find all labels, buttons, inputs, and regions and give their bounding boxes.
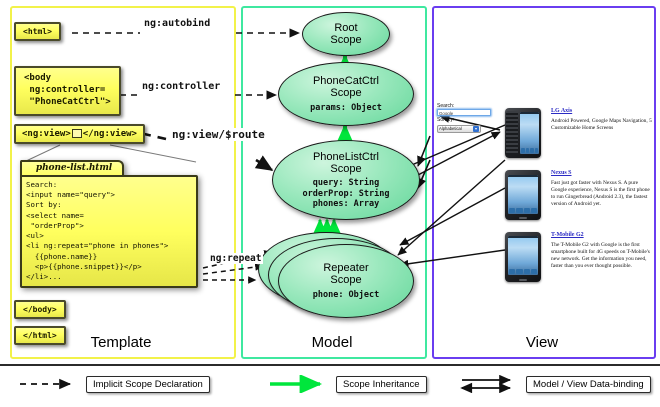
panel-label-template: Template xyxy=(10,334,232,351)
legend-item-scope-inheritance: Scope Inheritance xyxy=(268,374,427,394)
phone-name-link[interactable]: LG Axis xyxy=(551,108,655,116)
search-widget: Search: Google Sort by: Alphabetical ▾ xyxy=(437,103,493,133)
legend-item-implicit-scope: Implicit Scope Declaration xyxy=(18,374,210,394)
phone-thumbnail-icon xyxy=(505,232,541,282)
scope-phonecatctrl-title: PhoneCatCtrl Scope xyxy=(313,75,379,100)
phone-name-link[interactable]: T-Mobile G2 xyxy=(551,232,655,240)
phone-thumbnail-icon xyxy=(505,170,541,220)
search-input[interactable]: Google xyxy=(437,109,491,116)
edge-label-ng-autobind: ng:autobind xyxy=(142,18,212,29)
note-title: phone-list.html xyxy=(22,163,126,173)
note-tab: phone-list.html xyxy=(20,160,124,176)
scope-phonelistctrl-title: PhoneListCtrl Scope xyxy=(313,151,379,176)
phone-snippet: Android Powered, Google Maps Navigation,… xyxy=(551,118,655,132)
note-code: Search: <input name="query"> Sort by: <s… xyxy=(20,175,198,288)
diagram-root: <html> <body ng:controller= "PhoneCatCtr… xyxy=(0,0,660,405)
ngview-open-tag: <ng:view> xyxy=(22,129,71,139)
edge-label-ng-repeat: ng:repeat xyxy=(208,253,263,264)
phone-snippet: Fast just got faster with Nexus S. A pur… xyxy=(551,180,655,209)
scope-phonelistctrl-props: query: String orderProp: String phones: … xyxy=(303,178,390,209)
scope-phonecatctrl-props: params: Object xyxy=(310,103,382,113)
scope-repeater-props: phone: Object xyxy=(313,290,380,300)
note-phone-list-html: phone-list.html Search: <input name="que… xyxy=(20,160,198,288)
double-arrow-icon xyxy=(458,375,520,393)
phone-thumbnail-icon xyxy=(505,108,541,158)
green-arrow-icon xyxy=(268,375,330,393)
panel-label-view: View xyxy=(432,334,652,351)
ngview-placeholder-icon xyxy=(72,129,82,138)
legend: Implicit Scope Declaration Scope Inherit… xyxy=(0,364,660,407)
sort-select[interactable]: Alphabetical ▾ xyxy=(437,125,481,133)
sort-label: Sort by: xyxy=(437,117,493,123)
dashed-arrow-icon xyxy=(18,375,80,393)
scope-phonecatctrl: PhoneCatCtrl Scope params: Object xyxy=(278,62,414,126)
legend-label: Implicit Scope Declaration xyxy=(86,376,210,393)
edge-label-ng-view-route: ng:view/$route xyxy=(170,128,267,141)
ngview-close-tag: </ng:view> xyxy=(83,129,137,139)
legend-label: Model / View Data-binding xyxy=(526,376,651,393)
scope-root-title: Root Scope xyxy=(330,22,361,47)
scope-root: Root Scope xyxy=(302,12,390,56)
code-box-body-open: <body ng:controller= "PhoneCatCtrl"> xyxy=(14,66,121,116)
sort-select-value: Alphabetical xyxy=(439,126,462,131)
code-box-ngview: <ng:view></ng:view> xyxy=(14,124,145,144)
legend-item-data-binding: Model / View Data-binding xyxy=(458,374,651,394)
legend-label: Scope Inheritance xyxy=(336,376,427,393)
scope-repeater: Repeater Scope phone: Object xyxy=(278,244,414,318)
scope-repeater-title: Repeater Scope xyxy=(323,262,368,287)
code-box-body-close: </body> xyxy=(14,300,66,319)
phone-name-link[interactable]: Nexus S xyxy=(551,170,655,178)
chevron-down-icon: ▾ xyxy=(473,126,479,132)
edge-label-ng-controller: ng:controller xyxy=(140,81,222,92)
scope-phonelistctrl: PhoneListCtrl Scope query: String orderP… xyxy=(272,140,420,220)
code-box-html-open: <html> xyxy=(14,22,61,41)
panel-label-model: Model xyxy=(241,334,423,351)
phone-snippet: The T-Mobile G2 with Google is the first… xyxy=(551,242,655,271)
